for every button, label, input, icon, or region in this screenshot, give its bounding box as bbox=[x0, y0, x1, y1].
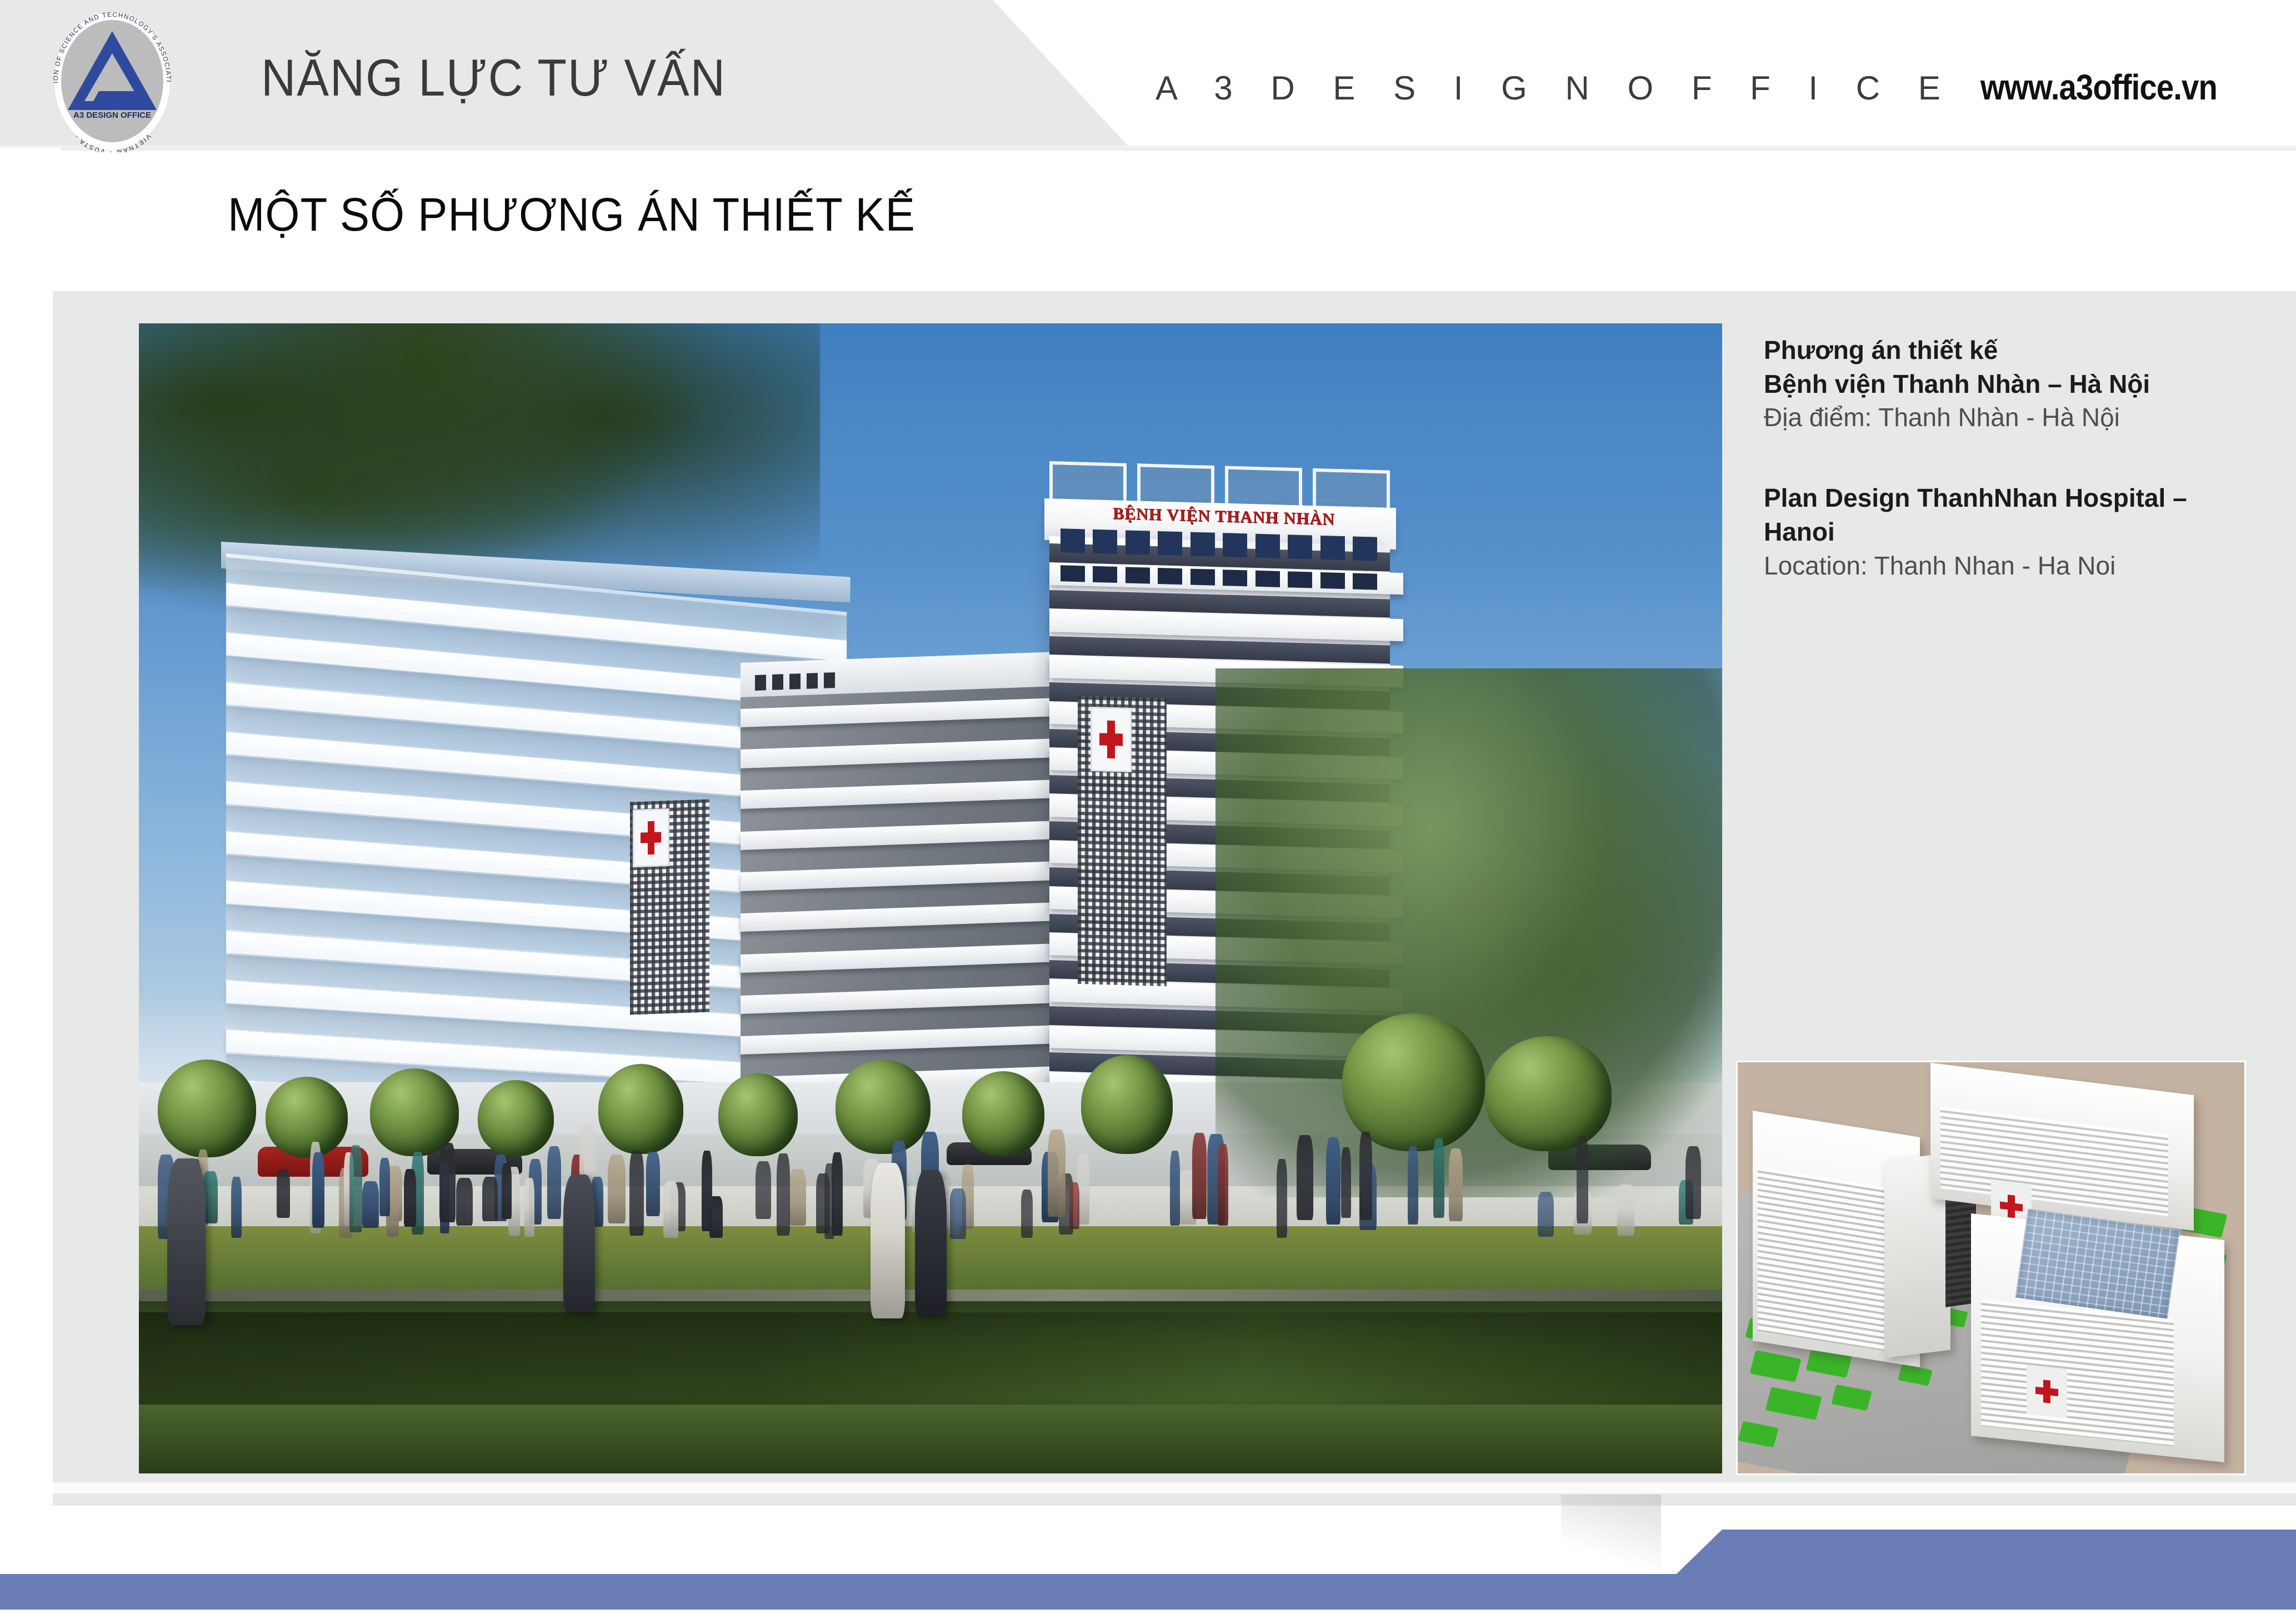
mid-block-floor-slab bbox=[741, 983, 1089, 1013]
mid-block-floor-slab bbox=[741, 860, 1089, 891]
pedestrian-figure bbox=[1048, 1130, 1065, 1217]
pedestrian-figure bbox=[1359, 1132, 1372, 1220]
sidebar-vi-location: Địa điểm: Thanh Nhàn - Hà Nội bbox=[1764, 401, 2264, 434]
pedestrian-figure bbox=[1449, 1148, 1463, 1222]
mid-block-floor-slab bbox=[741, 820, 1089, 850]
website-url[interactable]: www.a3office.vn bbox=[1980, 67, 2217, 108]
mid-block-floor-slab bbox=[741, 697, 1089, 727]
presentation-slide: A3 DESIGN OFFICE UNION OF SCIENCE AND TE… bbox=[0, 0, 2296, 1624]
red-cross-panel-left bbox=[633, 808, 669, 867]
pedestrian-figure bbox=[1538, 1192, 1554, 1237]
pedestrian-figure bbox=[608, 1155, 626, 1223]
pedestrian-figure bbox=[439, 1143, 456, 1223]
mid-block-floor-slab bbox=[741, 901, 1089, 932]
sidebar-en-heading-2: Hanoi bbox=[1764, 515, 2264, 549]
foreground-figure-2 bbox=[915, 1170, 947, 1317]
foreground-figure-1 bbox=[871, 1163, 906, 1318]
pedestrian-figure bbox=[312, 1152, 324, 1228]
pedestrian-figure bbox=[231, 1177, 241, 1238]
red-cross-panel-right bbox=[1091, 707, 1132, 772]
svg-text:A3 DESIGN OFFICE: A3 DESIGN OFFICE bbox=[73, 111, 151, 120]
pedestrian-figure bbox=[1021, 1190, 1033, 1238]
pedestrian-figure bbox=[524, 1178, 534, 1237]
footer-white-edge bbox=[0, 1610, 2296, 1624]
red-cross-icon bbox=[2035, 1378, 2058, 1403]
foreground-figure-4 bbox=[167, 1158, 205, 1325]
pedestrian-figure bbox=[663, 1181, 679, 1238]
left-margin-strip bbox=[0, 291, 53, 1624]
lawn-shadow bbox=[139, 1312, 1722, 1405]
brand-title: NĂNG LỰC TƯ VẤN bbox=[261, 48, 726, 108]
inset-red-cross-panel-front bbox=[2027, 1365, 2067, 1418]
mid-block-floor-slab bbox=[741, 1024, 1089, 1055]
office-name: A 3 D E S I G N O F F I C E bbox=[1155, 69, 1955, 107]
sidebar-vi-heading-1: Phương án thiết kế bbox=[1764, 333, 2264, 367]
pedestrian-figure bbox=[456, 1178, 473, 1226]
project-info-sidebar: Phương án thiết kế Bệnh viện Thanh Nhàn … bbox=[1764, 333, 2264, 582]
pedestrian-figure bbox=[482, 1177, 498, 1222]
pedestrian-figure bbox=[756, 1161, 772, 1219]
render-stage: BỆNH VIỆN THANH NHÀN bbox=[139, 323, 1722, 1473]
red-cross-icon bbox=[2000, 1193, 2023, 1219]
pedestrian-figure bbox=[502, 1163, 512, 1219]
pedestrian-figure bbox=[629, 1151, 644, 1236]
pedestrian-figure bbox=[1069, 1182, 1080, 1230]
pedestrian-figure bbox=[1297, 1135, 1313, 1220]
pedestrian-figure bbox=[950, 1188, 966, 1238]
sidebar-en-heading-1: Plan Design ThanhNhan Hospital – bbox=[1764, 481, 2264, 515]
pedestrian-figure bbox=[832, 1152, 843, 1235]
a3-design-office-logo: A3 DESIGN OFFICE UNION OF SCIENCE AND TE… bbox=[38, 7, 187, 152]
inset-left-floor-slats bbox=[1758, 1167, 1894, 1353]
red-cross-icon bbox=[1099, 721, 1123, 759]
pedestrian-figure bbox=[404, 1169, 416, 1227]
mid-block-floor-slab bbox=[741, 737, 1089, 768]
pedestrian-figure bbox=[1617, 1185, 1634, 1236]
pedestrian-figure bbox=[1277, 1159, 1287, 1238]
pedestrian-figure bbox=[1341, 1147, 1352, 1218]
pedestrian-figure bbox=[277, 1169, 291, 1218]
pedestrian-figure bbox=[646, 1152, 660, 1216]
mid-block-floor-slab bbox=[741, 778, 1089, 809]
sidebar-en-location: Location: Thanh Nhan - Ha Noi bbox=[1764, 549, 2264, 583]
pedestrian-figure bbox=[789, 1169, 806, 1226]
pedestrian-figure bbox=[1433, 1138, 1444, 1218]
footer-blue-band bbox=[0, 1574, 2296, 1610]
header-divider-line-secondary bbox=[61, 148, 2296, 151]
pedestrian-figure bbox=[379, 1158, 390, 1216]
pedestrian-figure bbox=[1326, 1137, 1340, 1225]
red-cross-icon bbox=[641, 820, 662, 855]
sidebar-vi-heading-2: Bệnh viện Thanh Nhàn – Hà Nội bbox=[1764, 367, 2264, 401]
pedestrian-figure bbox=[362, 1181, 379, 1228]
pedestrian-figure bbox=[1408, 1146, 1418, 1225]
mid-block-floor-slab bbox=[741, 942, 1089, 973]
pedestrian-figure bbox=[349, 1145, 362, 1232]
pedestrian-figure bbox=[1170, 1151, 1180, 1226]
sidebar-spacer bbox=[1764, 434, 2264, 481]
pedestrian-figure bbox=[1577, 1136, 1588, 1223]
pedestrian-figure bbox=[702, 1151, 713, 1232]
pedestrian-figure bbox=[1685, 1146, 1700, 1220]
aerial-model-inset bbox=[1738, 1062, 2244, 1473]
page-title: MỘT SỐ PHƯƠNG ÁN THIẾT KẾ bbox=[228, 188, 916, 242]
pedestrian-figure bbox=[547, 1146, 562, 1220]
panel-bottom-gap bbox=[53, 1482, 2296, 1493]
main-render-image: BỆNH VIỆN THANH NHÀN bbox=[139, 323, 1722, 1473]
pedestrian-figure bbox=[1218, 1144, 1228, 1226]
pedestrian-figure bbox=[1192, 1133, 1207, 1219]
foreground-figure-3 bbox=[563, 1175, 595, 1312]
pedestrian-figure bbox=[777, 1153, 790, 1235]
inset-front-slats bbox=[1981, 1299, 2174, 1447]
